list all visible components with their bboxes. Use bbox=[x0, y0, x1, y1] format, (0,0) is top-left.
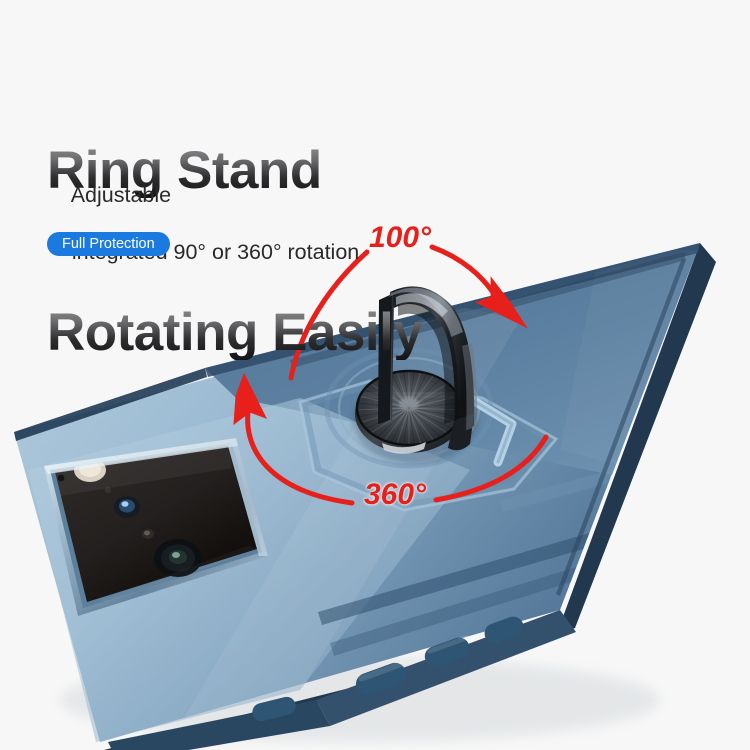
status-badge: Full Protection bbox=[47, 232, 170, 256]
subtitle-line-1: Adjustable bbox=[71, 183, 171, 207]
headline-line-2: Rotating Easily bbox=[47, 306, 607, 360]
page-subtitle: Adjustable integrated 90° or 360° rotati… bbox=[48, 152, 528, 295]
product-marketing-image: 100° 360° Ring Stand Rotating Easily Adj… bbox=[0, 0, 750, 750]
rotation-angle-annotation: 360° bbox=[364, 478, 426, 512]
